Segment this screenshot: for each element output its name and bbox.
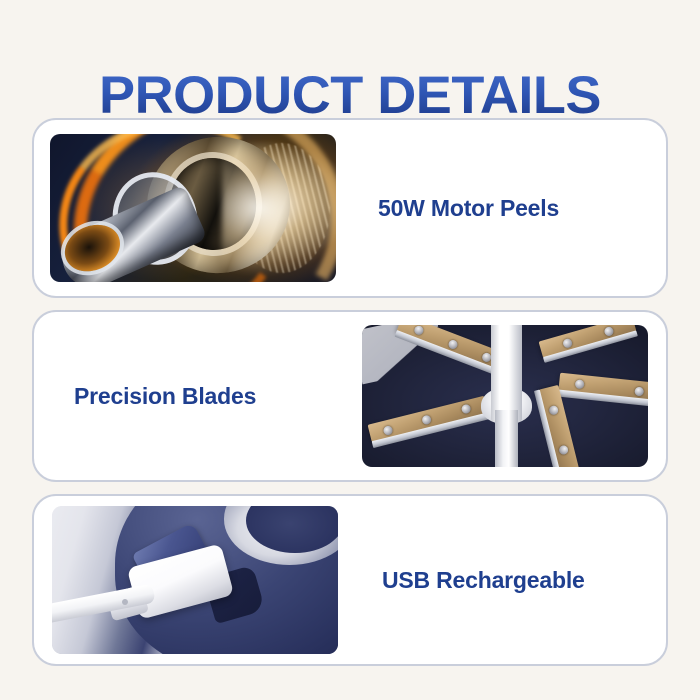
detail-card-blades: Precision Blades [32,310,668,482]
blade-strip [367,396,488,443]
motor-light-flare [222,140,336,276]
blade-strip [559,372,648,401]
detail-card-motor: 50W Motor Peels [32,118,668,298]
blades-center-post [491,325,522,422]
blade-screw [421,415,432,426]
usb-image [52,506,338,654]
page-title: PRODUCT DETAILS [0,69,700,122]
blade-screw [549,404,560,415]
blade-screw [604,326,615,337]
blade-screw [575,379,585,389]
detail-card-label-usb: USB Rechargeable [338,567,666,594]
blade-screw [563,337,574,348]
detail-card-label-blades: Precision Blades [34,383,362,410]
blades-post-lower [495,410,518,467]
blade-screw [447,338,459,350]
detail-card-label-motor: 50W Motor Peels [336,195,666,222]
detail-card-usb: USB Rechargeable [32,494,668,666]
blades-image [362,325,648,467]
blade-screw [559,444,570,455]
blade-screw [413,325,425,335]
motor-image [50,134,336,282]
blade-screw [383,425,394,436]
product-details-infographic: PRODUCT DETAILS 50W Motor Peels Precisio… [0,0,700,700]
blade-screw [460,404,471,415]
blade-screw [635,386,645,396]
blade-strip [539,325,637,358]
